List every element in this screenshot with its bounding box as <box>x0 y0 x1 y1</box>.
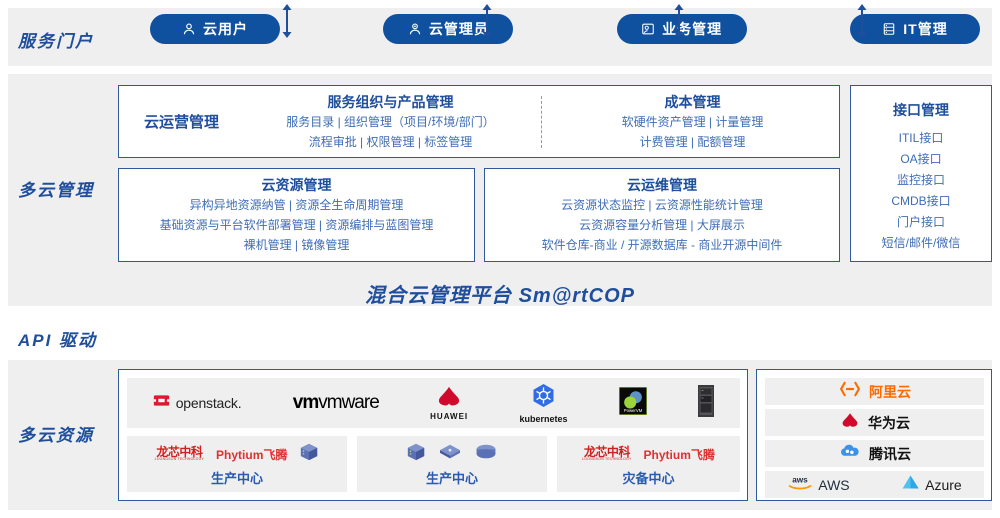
svg-text:PowerVM: PowerVM <box>624 408 643 413</box>
public-cloud-huawei[interactable]: 华为云 <box>765 409 984 436</box>
alibaba-cloud-icon <box>838 381 862 402</box>
vendor-logo-row: openstack. vmvmware HUAWEI <box>127 378 740 428</box>
kubernetes-icon <box>531 383 556 413</box>
bidirectional-arrow-icon <box>480 4 494 43</box>
architecture-diagram: 服务门户 云用户 云管理员 业务管理 IT管理 <box>0 0 1000 518</box>
column-title: 成本管理 <box>665 92 721 112</box>
datacenter-logo-row: 龙芯中科 LOONGSON TECHNOLOGY Phytium飞腾 <box>155 441 320 467</box>
platform-title: 混合云管理平台 Sm@rtCOP <box>0 279 1000 308</box>
public-cloud-label: AWS <box>818 477 849 493</box>
datacenter-name: 生产中心 <box>211 468 263 487</box>
aws-icon: aws <box>787 474 813 496</box>
line: CMDB接口 <box>882 191 961 212</box>
vendor-server-rack <box>698 385 714 422</box>
datacenter-name: 生产中心 <box>426 468 478 487</box>
line: 流程审批 | 权限管理 | 标签管理 <box>286 132 494 152</box>
public-cloud-alibaba[interactable]: 阿里云 <box>765 378 984 405</box>
column-title: 服务组织与产品管理 <box>328 92 454 112</box>
public-cloud-box: 阿里云 华为云 腾 <box>756 369 992 501</box>
public-cloud-label: 腾讯云 <box>869 444 911 464</box>
multicloud-management-band: 云运营管理 服务组织与产品管理 服务目录 | 组织管理（项目/环境/部门） 流程… <box>8 74 992 306</box>
api-driven-band <box>8 313 992 355</box>
line: 裸机管理 | 镜像管理 <box>160 235 434 255</box>
private-cloud-box: openstack. vmvmware HUAWEI <box>118 369 748 501</box>
line: 监控接口 <box>882 170 961 191</box>
vendor-openstack: openstack. <box>153 392 242 414</box>
server-rack-photo-icon <box>698 385 714 422</box>
loongson-icon: 龙芯中科 LOONGSON TECHNOLOGY <box>155 446 204 462</box>
public-cloud-tencent[interactable]: 腾讯云 <box>765 440 984 467</box>
line: 软硬件资产管理 | 计量管理 <box>622 112 764 132</box>
vendor-label: kubernetes <box>520 414 568 424</box>
vendor-label: openstack. <box>176 395 242 411</box>
loongson-en-label: LOONGSON TECHNOLOGY <box>155 458 204 462</box>
datacenter-group-disaster-recovery: 龙芯中科 LOONGSON TECHNOLOGY Phytium飞腾 灾备中心 <box>557 436 740 492</box>
azure-icon <box>901 474 920 495</box>
loongson-icon: 龙芯中科 LOONGSON TECHNOLOGY <box>582 446 631 462</box>
public-cloud-aws-azure-row: aws AWS Azure <box>765 471 984 498</box>
datacenter-logo-row <box>406 441 498 467</box>
bidirectional-arrow-icon <box>672 4 686 43</box>
line: 计费管理 | 配额管理 <box>622 132 764 152</box>
powervm-icon: PowerVM <box>619 387 647 420</box>
datacenter-group-production-2: 生产中心 <box>357 436 547 492</box>
cloud-operations-heading: 云运营管理 <box>119 111 244 132</box>
tencent-cloud-icon <box>838 443 862 464</box>
line: 门户接口 <box>882 212 961 233</box>
huawei-cloud-icon <box>839 412 861 433</box>
box-title: 接口管理 <box>893 100 949 120</box>
svg-text:aws: aws <box>792 475 808 484</box>
public-cloud-azure[interactable]: Azure <box>901 474 962 495</box>
box-lines: 云资源状态监控 | 云资源性能统计管理 云资源容量分析管理 | 大屏展示 软件仓… <box>542 195 783 255</box>
box-title: 云资源管理 <box>262 175 332 195</box>
cloud-maintenance-mgmt-box[interactable]: 云运维管理 云资源状态监控 | 云资源性能统计管理 云资源容量分析管理 | 大屏… <box>484 168 840 262</box>
line: ITIL接口 <box>882 128 961 149</box>
line: 短信/邮件/微信 <box>882 233 961 254</box>
api-driven-label: API 驱动 <box>18 326 97 351</box>
switch-icon <box>438 442 462 467</box>
line: 软件仓库-商业 / 开源数据库 - 商业开源中间件 <box>542 235 783 255</box>
cloud-operations-box[interactable]: 云运营管理 服务组织与产品管理 服务目录 | 组织管理（项目/环境/部门） 流程… <box>118 85 840 158</box>
vendor-label: vmware <box>318 392 379 413</box>
service-product-mgmt-column: 服务组织与产品管理 服务目录 | 组织管理（项目/环境/部门） 流程审批 | 权… <box>244 92 537 152</box>
server-cube-icon <box>299 442 319 467</box>
api-arrow-group <box>0 0 1000 42</box>
line: 基础资源与平台软件部署管理 | 资源编排与蓝图管理 <box>160 215 434 235</box>
line: 服务目录 | 组织管理（项目/环境/部门） <box>286 112 494 132</box>
datacenter-group-production-1: 龙芯中科 LOONGSON TECHNOLOGY Phytium飞腾 生产中心 <box>127 436 347 492</box>
cost-mgmt-column: 成本管理 软硬件资产管理 | 计量管理 计费管理 | 配额管理 <box>546 92 839 152</box>
line: 云资源容量分析管理 | 大屏展示 <box>542 215 783 235</box>
loongson-en-label: LOONGSON TECHNOLOGY <box>582 458 631 462</box>
dashed-divider <box>541 96 542 148</box>
phytium-icon: Phytium飞腾 <box>216 446 287 463</box>
public-cloud-label: 阿里云 <box>869 382 911 402</box>
vendor-vmware: vmvmware <box>293 392 379 414</box>
vmware-icon: vmvmware <box>293 392 379 414</box>
server-cube-icon <box>406 442 426 467</box>
public-cloud-label: 华为云 <box>868 413 910 433</box>
multicloud-management-label: 多云管理 <box>18 176 94 201</box>
column-lines: 服务目录 | 组织管理（项目/环境/部门） 流程审批 | 权限管理 | 标签管理 <box>286 112 494 152</box>
public-cloud-aws[interactable]: aws AWS <box>787 474 849 496</box>
vendor-powervm: PowerVM <box>619 387 647 420</box>
column-lines: 软硬件资产管理 | 计量管理 计费管理 | 配额管理 <box>622 112 764 152</box>
multicloud-resources-label: 多云资源 <box>18 421 94 446</box>
openstack-icon <box>153 392 170 414</box>
huawei-icon <box>434 386 464 412</box>
cloud-resource-mgmt-box[interactable]: 云资源管理 异构异地资源纳管 | 资源全生命周期管理 基础资源与平台软件部署管理… <box>118 168 475 262</box>
vendor-huawei: HUAWEI <box>430 386 468 421</box>
vendor-kubernetes: kubernetes <box>520 383 568 424</box>
line: 异构异地资源纳管 | 资源全生命周期管理 <box>160 195 434 215</box>
public-cloud-label: Azure <box>925 477 962 493</box>
bidirectional-arrow-icon <box>855 4 869 43</box>
box-lines: 异构异地资源纳管 | 资源全生命周期管理 基础资源与平台软件部署管理 | 资源编… <box>160 195 434 255</box>
box-lines: ITIL接口 OA接口 监控接口 CMDB接口 门户接口 短信/邮件/微信 <box>882 128 961 254</box>
line: OA接口 <box>882 149 961 170</box>
storage-disk-icon <box>474 443 498 466</box>
bidirectional-arrow-icon <box>280 4 294 43</box>
phytium-icon: Phytium飞腾 <box>644 446 715 463</box>
line: 云资源状态监控 | 云资源性能统计管理 <box>542 195 783 215</box>
box-title: 云运维管理 <box>627 175 697 195</box>
datacenter-logo-row: 龙芯中科 LOONGSON TECHNOLOGY Phytium飞腾 <box>582 441 715 467</box>
multicloud-resources-band: openstack. vmvmware HUAWEI <box>8 360 992 510</box>
vendor-label: HUAWEI <box>430 412 468 421</box>
datacenter-name: 灾备中心 <box>622 468 674 487</box>
interface-mgmt-box[interactable]: 接口管理 ITIL接口 OA接口 监控接口 CMDB接口 门户接口 短信/邮件/… <box>850 85 992 262</box>
